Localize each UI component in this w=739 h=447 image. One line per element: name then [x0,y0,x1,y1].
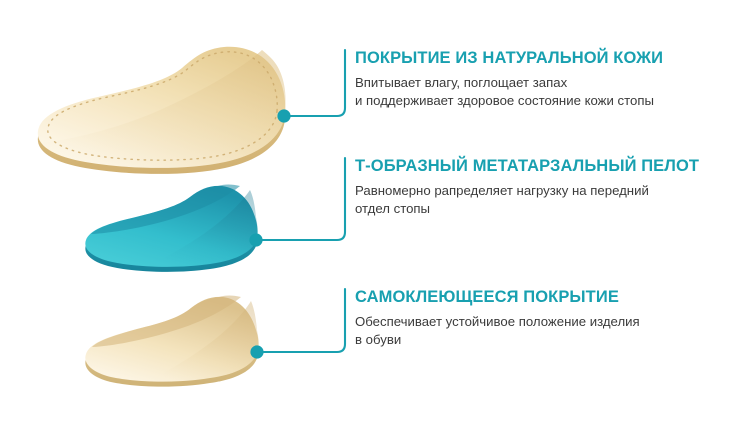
connector-3 [250,289,345,359]
feature-description-line: и поддерживает здоровое состояние кожи с… [355,92,705,110]
connector-2 [249,158,345,247]
infographic-canvas: ПОКРЫТИЕ ИЗ НАТУРАЛЬНОЙ КОЖИ Впитывает в… [0,0,739,447]
beige-adhesive-pad [85,296,258,387]
connector-dot-3 [250,345,263,358]
feature-block-natural-leather-cover: ПОКРЫТИЕ ИЗ НАТУРАЛЬНОЙ КОЖИ Впитывает в… [355,48,705,109]
feature-description: Обеспечивает устойчивое положение издели… [355,313,705,348]
connector-dot-2 [249,233,262,246]
leather-insole-pad [38,47,286,174]
feature-description: Впитывает влагу, поглощает запах и подде… [355,74,705,109]
feature-block-t-shaped-metatarsal-pad: Т-ОБРАЗНЫЙ МЕТАТАРЗАЛЬНЫЙ ПЕЛОТ Равномер… [355,156,705,217]
feature-description-line: Обеспечивает устойчивое положение издели… [355,313,705,331]
feature-block-self-adhesive-cover: САМОКЛЕЮЩЕЕСЯ ПОКРЫТИЕ Обеспечивает усто… [355,287,705,348]
feature-description-line: в обуви [355,331,705,349]
feature-title: Т-ОБРАЗНЫЙ МЕТАТАРЗАЛЬНЫЙ ПЕЛОТ [355,156,705,176]
feature-description: Равномерно рапределяет нагрузку на перед… [355,182,705,217]
connector-dot-1 [277,109,290,122]
feature-title: САМОКЛЕЮЩЕЕСЯ ПОКРЫТИЕ [355,287,705,307]
feature-description-line: Равномерно рапределяет нагрузку на перед… [355,182,705,200]
feature-title: ПОКРЫТИЕ ИЗ НАТУРАЛЬНОЙ КОЖИ [355,48,705,68]
connector-1 [277,50,345,123]
feature-description-line: Впитывает влагу, поглощает запах [355,74,705,92]
teal-metatarsal-pad [85,185,257,272]
feature-description-line: отдел стопы [355,200,705,218]
